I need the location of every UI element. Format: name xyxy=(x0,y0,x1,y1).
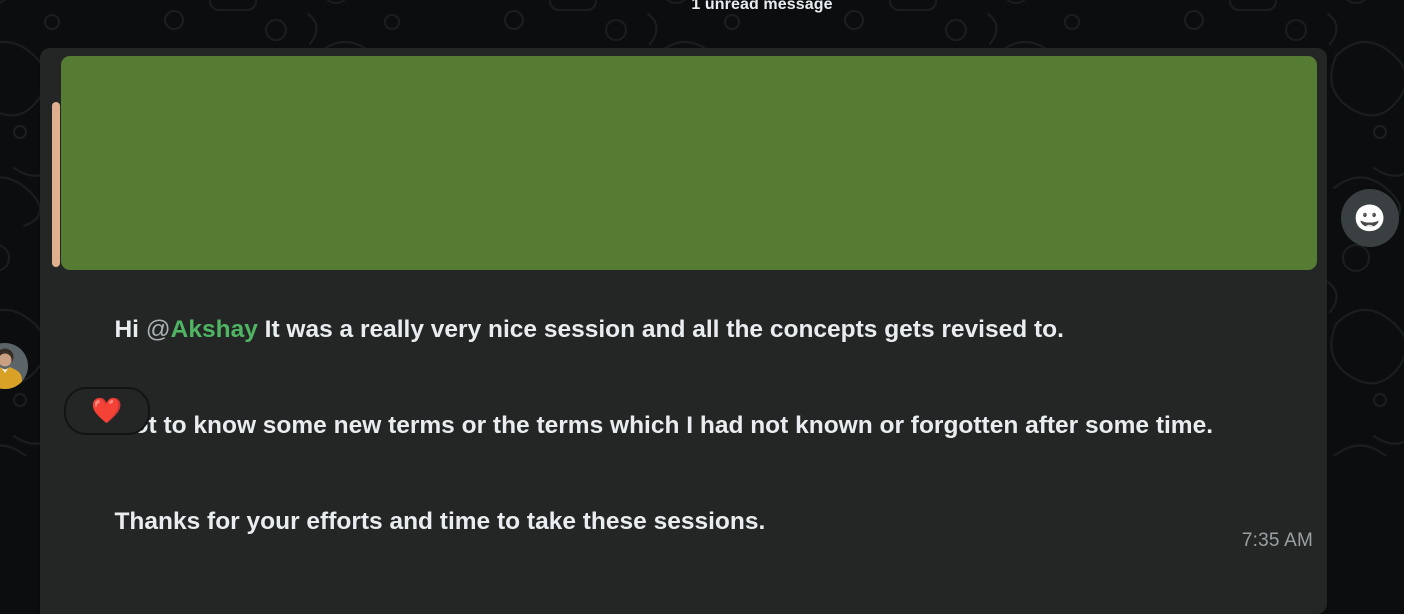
message-timestamp: 7:35 AM xyxy=(1242,530,1313,552)
mention-at-symbol: @ xyxy=(146,316,171,343)
message-text: Hi @Akshay It was a really very nice ses… xyxy=(40,270,1327,576)
reaction-pill[interactable]: ❤️ xyxy=(64,387,150,435)
media-thumbnail[interactable] xyxy=(61,56,1317,270)
message-bubble-incoming[interactable]: Hi @Akshay It was a really very nice ses… xyxy=(40,48,1327,614)
smiley-face-icon: 😀 xyxy=(1354,205,1386,231)
mention-akshay[interactable]: Akshay xyxy=(171,316,258,343)
quote-accent-bar xyxy=(52,102,60,267)
message-text-line: Got to know some new terms or the terms … xyxy=(60,378,1313,474)
bubble-bottom-spacer xyxy=(40,576,1327,614)
emoji-react-button[interactable]: 😀 xyxy=(1341,189,1399,247)
red-heart-emoji: ❤️ xyxy=(91,399,122,424)
message-text-segment: Thanks for your efforts and time to take… xyxy=(114,508,765,535)
message-text-segment: Hi xyxy=(114,316,145,343)
quoted-media-preview[interactable] xyxy=(49,56,1319,270)
message-text-line: Hi @Akshay It was a really very nice ses… xyxy=(60,282,1313,378)
message-text-segment: It was a really very nice session and al… xyxy=(258,316,1064,343)
message-text-line: Thanks for your efforts and time to take… xyxy=(60,474,1313,570)
message-text-segment: Got to know some new terms or the terms … xyxy=(114,412,1213,439)
